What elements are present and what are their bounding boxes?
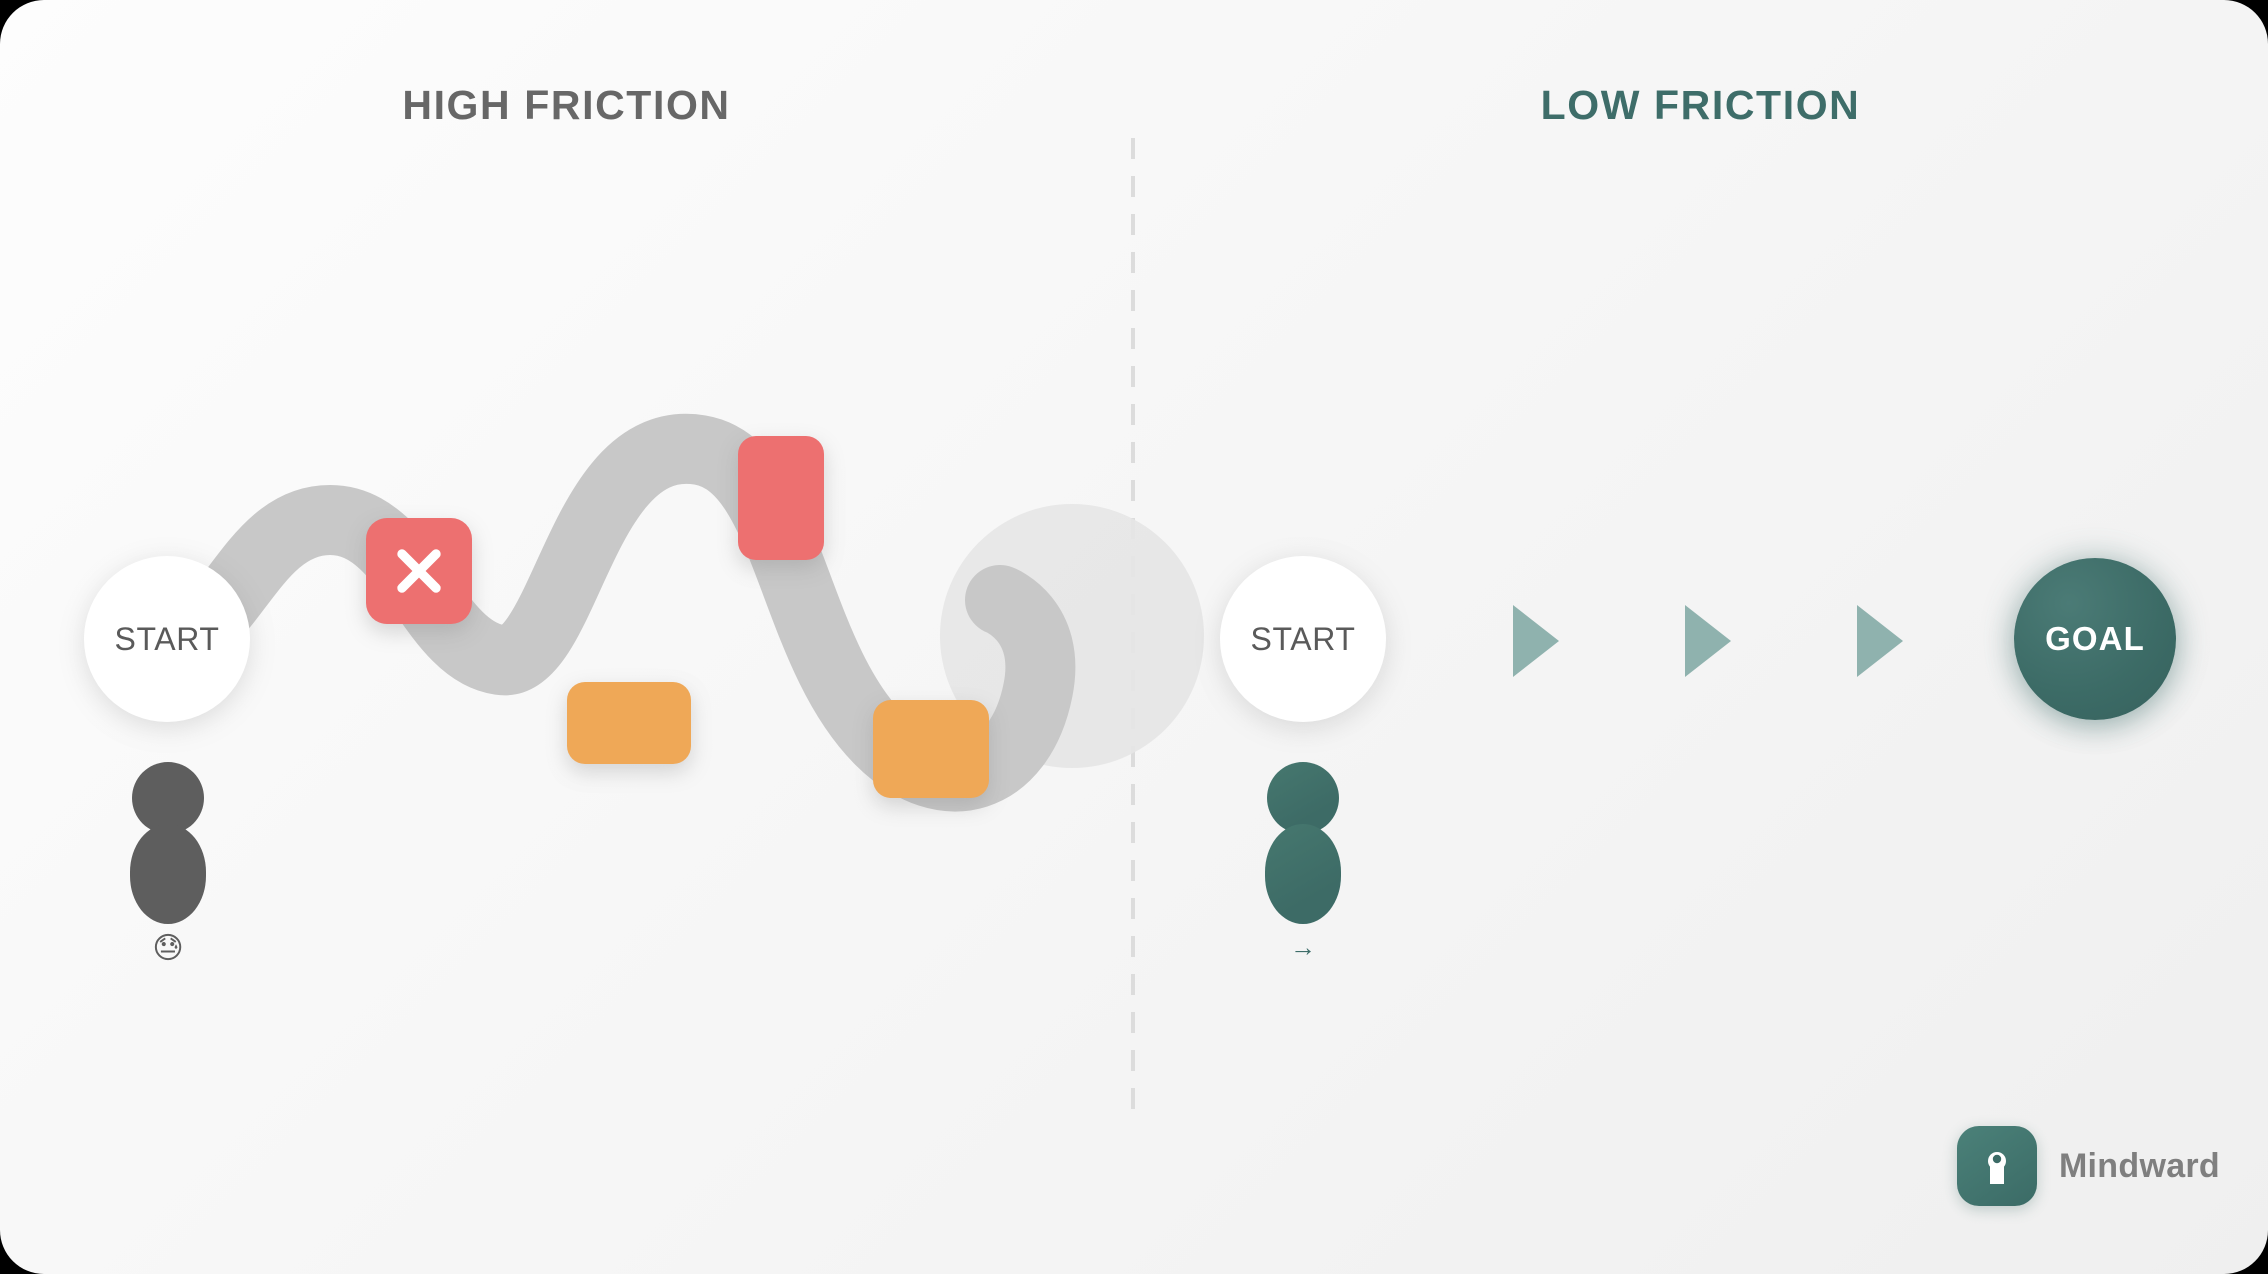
brand-logo (1957, 1126, 2037, 1206)
goal-label: GOAL (2045, 620, 2145, 658)
brand-name: Mindward (2059, 1147, 2220, 1186)
person-mood-left: 😓 (108, 934, 228, 964)
flow-arrow-2 (1685, 605, 1731, 677)
person-body-icon (1265, 824, 1341, 924)
blocker-x[interactable] (366, 518, 472, 624)
x-icon (388, 540, 450, 602)
start-label-right: START (1251, 621, 1356, 658)
flow-arrow-3 (1857, 605, 1903, 677)
blocker-orange-2[interactable] (873, 700, 989, 798)
person-mood-right: → (1243, 934, 1363, 960)
keyhole-icon (1977, 1144, 2017, 1188)
blocker-tall[interactable] (738, 436, 824, 560)
start-label-left: START (115, 621, 220, 658)
start-node-right[interactable]: START (1220, 556, 1386, 722)
goal-node[interactable]: GOAL (2014, 558, 2176, 720)
blocker-orange-1[interactable] (567, 682, 691, 764)
person-body-icon (130, 824, 206, 924)
path-layer (0, 0, 2268, 1274)
start-node-left[interactable]: START (84, 556, 250, 722)
flow-arrow-1 (1513, 605, 1559, 677)
infographic-canvas: HIGH FRICTION LOW FRICTION START START G… (0, 0, 2268, 1274)
brand-lockup: Mindward (1957, 1126, 2220, 1206)
